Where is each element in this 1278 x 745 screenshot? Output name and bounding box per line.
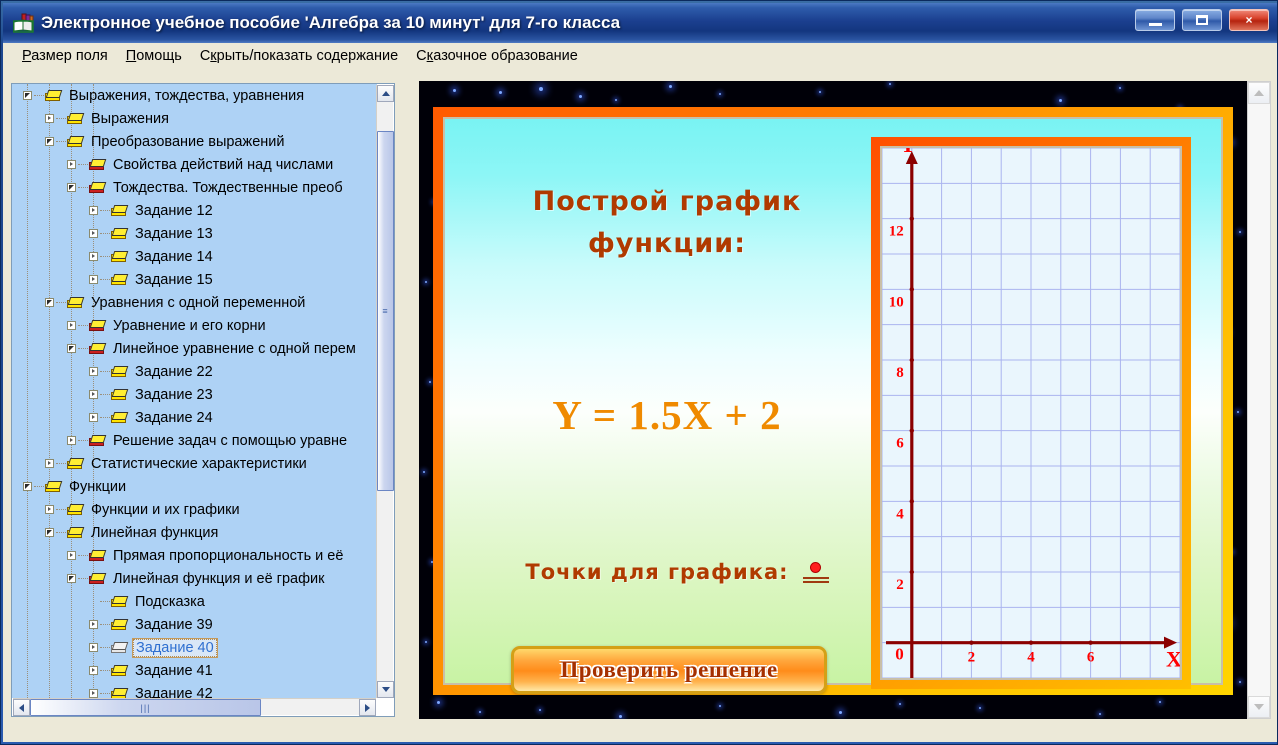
star — [499, 91, 502, 94]
triangle-right-icon — [67, 436, 76, 445]
tree-item-selected[interactable]: Задание 40 — [12, 636, 377, 659]
triangle-right-icon — [89, 413, 98, 422]
svg-text:X: X — [1166, 647, 1180, 672]
star — [437, 701, 440, 704]
tree-expander-expanded[interactable] — [20, 475, 34, 498]
chevron-up-icon — [1254, 90, 1264, 96]
menu-item-toggle-contents[interactable]: Скрыть/показать содержание — [191, 46, 407, 66]
close-button[interactable]: × — [1229, 9, 1269, 31]
tree-expander-collapsed[interactable] — [86, 268, 100, 291]
points-row: Точки для графика: — [497, 559, 857, 585]
book-red-icon — [88, 433, 107, 449]
tree-connector — [100, 647, 110, 648]
book-yellow-icon — [66, 502, 85, 518]
tree-item-label: Линейная функция — [89, 525, 220, 541]
tree-expander-collapsed[interactable] — [86, 682, 100, 698]
tree-connector — [100, 279, 110, 280]
scroll-grip-icon: ||| — [140, 703, 150, 713]
tree-item[interactable]: Задание 14 — [12, 245, 377, 268]
window-title: Электронное учебное пособие 'Алгебра за … — [41, 13, 620, 33]
tree-item-label: Задание 22 — [133, 364, 215, 380]
book-red-icon — [88, 157, 107, 173]
triangle-right-icon — [89, 275, 98, 284]
tree-item-label: Линейная функция и её график — [111, 571, 326, 587]
points-label: Точки для графика: — [525, 560, 788, 584]
tree-item-label: Задание 41 — [133, 663, 215, 679]
tree-connector — [100, 371, 110, 372]
tree-item-label: Задание 13 — [133, 226, 215, 242]
graph-frame: 246246810120YX — [871, 137, 1191, 689]
chevron-down-icon — [382, 687, 390, 692]
book-yellow-icon — [66, 525, 85, 541]
tree-item-label: Задание 12 — [133, 203, 215, 219]
tree-item[interactable]: Статистические характеристики — [12, 452, 377, 475]
tree-expander-expanded[interactable] — [42, 130, 56, 153]
tree-connector — [78, 187, 88, 188]
coordinate-grid: 246246810120YX — [882, 148, 1180, 678]
triangle-right-icon — [89, 390, 98, 399]
star — [1059, 99, 1062, 102]
tree-item-label: Линейное уравнение с одной перем — [111, 341, 358, 357]
menu-accel: П — [126, 48, 136, 64]
tree-expander-collapsed[interactable] — [86, 636, 100, 659]
star — [839, 711, 842, 714]
tree-horizontal-scroll-thumb[interactable]: ||| — [30, 699, 261, 716]
tree-expander-collapsed[interactable] — [64, 429, 78, 452]
tree-item[interactable]: Функции — [12, 475, 377, 498]
triangle-down-icon — [45, 528, 54, 537]
tree-scroll-up-button[interactable] — [377, 85, 394, 102]
star — [719, 705, 721, 707]
tree-connector — [100, 233, 110, 234]
tree-connector — [78, 578, 88, 579]
star — [669, 85, 672, 88]
menu-label-post: азмер поля — [31, 48, 108, 64]
tree-item[interactable]: Подсказка — [12, 590, 377, 613]
stage-scroll-down-button[interactable] — [1248, 696, 1270, 718]
star — [539, 709, 541, 711]
slide-frame: Построй график функции: Y = 1.5X + 2 Точ… — [433, 107, 1233, 695]
menu-label-pre: С — [416, 48, 426, 64]
triangle-right-icon — [89, 252, 98, 261]
tree-item-label: Статистические характеристики — [89, 456, 309, 472]
menu-item-field-size[interactable]: Размер поля — [13, 46, 117, 66]
tree-item[interactable]: Уравнения с одной переменной — [12, 291, 377, 314]
marker-underline-bottom — [803, 581, 829, 583]
svg-text:4: 4 — [896, 506, 904, 522]
triangle-right-icon — [89, 206, 98, 215]
triangle-right-icon — [67, 160, 76, 169]
tree-item-label: Задание 24 — [133, 410, 215, 426]
tree-item-label: Задание 14 — [133, 249, 215, 265]
star — [453, 89, 456, 92]
tree-expander-collapsed[interactable] — [86, 383, 100, 406]
star — [889, 83, 891, 85]
book-red-icon — [88, 571, 107, 587]
menu-label-post: азочное образование — [433, 48, 578, 64]
tree-item-label: Выражения — [89, 111, 171, 127]
star — [819, 91, 821, 93]
triangle-down-icon — [23, 482, 32, 491]
tree-item[interactable]: Выражения — [12, 107, 377, 130]
tree-connector — [100, 601, 110, 602]
tree-expander-collapsed[interactable] — [64, 153, 78, 176]
star — [1159, 701, 1161, 703]
svg-text:6: 6 — [1087, 650, 1095, 666]
tree-expander-collapsed[interactable] — [64, 314, 78, 337]
svg-text:6: 6 — [896, 436, 904, 452]
tree-expander-collapsed[interactable] — [86, 406, 100, 429]
triangle-right-icon — [89, 689, 98, 698]
tree-item[interactable]: Задание 22 — [12, 360, 377, 383]
tree-item-label: Функции и их графики — [89, 502, 242, 518]
tree-expander-collapsed[interactable] — [86, 613, 100, 636]
tree-item-label: Задание 40 — [133, 639, 217, 657]
tree-expander-collapsed[interactable] — [86, 245, 100, 268]
book-yellow-icon — [44, 479, 63, 495]
tree-horizontal-scrollbar[interactable]: ||| — [13, 698, 376, 715]
tree-item[interactable]: Задание 23 — [12, 383, 377, 406]
book-yellow-icon — [110, 410, 129, 426]
book-red-icon — [88, 180, 107, 196]
minimize-icon — [1149, 23, 1162, 26]
svg-text:12: 12 — [889, 224, 904, 240]
tree-expander-collapsed[interactable] — [64, 544, 78, 567]
svg-text:4: 4 — [1027, 650, 1035, 666]
book-yellow-icon — [66, 134, 85, 150]
tree-expander-collapsed[interactable] — [42, 452, 56, 475]
tree-expander-expanded[interactable] — [42, 291, 56, 314]
star — [479, 711, 481, 713]
tree-connector — [56, 509, 66, 510]
maximize-icon — [1196, 15, 1208, 25]
star — [425, 281, 427, 283]
tree-item-label: Функции — [67, 479, 128, 495]
book-yellow-icon — [110, 663, 129, 679]
tree-vertical-scroll-thumb[interactable]: ≡ — [377, 131, 394, 491]
svg-text:2: 2 — [968, 650, 976, 666]
tree-expander-collapsed[interactable] — [86, 360, 100, 383]
tree-connector — [34, 95, 44, 96]
tree-connector — [100, 210, 110, 211]
point-dot — [810, 562, 821, 573]
tree-connector — [100, 670, 110, 671]
tree-item[interactable]: Решение задач с помощью уравне — [12, 429, 377, 452]
chevron-up-icon — [382, 91, 390, 96]
tree-expander-collapsed[interactable] — [86, 199, 100, 222]
tree-item-label: Задание 15 — [133, 272, 215, 288]
tree-item[interactable]: Задание 41 — [12, 659, 377, 682]
tree-item[interactable]: Прямая пропорциональность и её — [12, 544, 377, 567]
tree-item[interactable]: Функции и их графики — [12, 498, 377, 521]
triangle-right-icon — [45, 505, 54, 514]
tree-expander-none — [86, 590, 100, 613]
tree-connector — [56, 141, 66, 142]
tree-connector — [78, 440, 88, 441]
triangle-right-icon — [89, 643, 98, 652]
menu-bar: Размер поля Помощь Скрыть/показать содер… — [3, 43, 1277, 69]
menu-label-post: рыть/показать содержание — [217, 48, 399, 64]
book-open-icon — [110, 640, 129, 656]
tree-connector — [100, 624, 110, 625]
triangle-down-icon — [67, 344, 76, 353]
book-red-icon — [88, 548, 107, 564]
chevron-right-icon — [365, 704, 370, 712]
tree-item[interactable]: Свойства действий над числами — [12, 153, 377, 176]
triangle-right-icon — [89, 620, 98, 629]
tree-connector — [78, 348, 88, 349]
svg-text:0: 0 — [895, 645, 904, 664]
tree-expander-expanded[interactable] — [64, 337, 78, 360]
graph-plot-area[interactable]: 246246810120YX — [880, 146, 1182, 680]
function-formula: Y = 1.5X + 2 — [497, 391, 837, 439]
lesson-stage: Построй график функции: Y = 1.5X + 2 Точ… — [419, 81, 1249, 719]
book-yellow-icon — [110, 226, 129, 242]
tree-expander-collapsed[interactable] — [86, 659, 100, 682]
tree-item[interactable]: Задание 24 — [12, 406, 377, 429]
tree-expander-collapsed[interactable] — [42, 107, 56, 130]
triangle-right-icon — [89, 229, 98, 238]
book-yellow-icon — [44, 88, 63, 104]
tree-item[interactable]: Задание 39 — [12, 613, 377, 636]
tree-item[interactable]: Задание 13 — [12, 222, 377, 245]
stage-vertical-scrollbar[interactable] — [1247, 81, 1271, 719]
book-yellow-icon — [110, 686, 129, 699]
client-area: Выражения, тождества, уравненияВыражения… — [3, 69, 1277, 742]
tree-connector — [100, 394, 110, 395]
svg-text:10: 10 — [889, 294, 904, 310]
tree-connector — [78, 325, 88, 326]
red-dot-marker-icon[interactable] — [803, 559, 829, 585]
tree-scroll-left-button[interactable] — [13, 699, 30, 716]
triangle-right-icon — [89, 367, 98, 376]
stage-scroll-up-button[interactable] — [1248, 82, 1270, 104]
tree-connector — [100, 417, 110, 418]
triangle-down-icon — [45, 137, 54, 146]
star — [423, 471, 425, 473]
chevron-down-icon — [1254, 704, 1264, 710]
star — [579, 95, 582, 98]
window-controls: × — [1135, 9, 1269, 31]
triangle-down-icon — [67, 183, 76, 192]
minimize-button[interactable] — [1135, 9, 1175, 31]
tree-connector — [100, 693, 110, 694]
tree-item-label: Выражения, тождества, уравнения — [67, 88, 306, 104]
maximize-button[interactable] — [1182, 9, 1222, 31]
tree-connector — [34, 486, 44, 487]
book-yellow-icon — [110, 249, 129, 265]
tree-item[interactable]: Линейная функция и её график — [12, 567, 377, 590]
tree-connector — [78, 555, 88, 556]
title-bar: Электронное учебное пособие 'Алгебра за … — [3, 3, 1277, 43]
tree-item[interactable]: Задание 15 — [12, 268, 377, 291]
svg-text:2: 2 — [896, 577, 904, 593]
task-prompt-line2: функции: — [497, 223, 837, 265]
book-yellow-icon — [110, 203, 129, 219]
books-icon — [9, 13, 39, 33]
tree-item-label: Подсказка — [133, 594, 207, 610]
scroll-grip-icon: ≡ — [382, 306, 388, 316]
tree-item-label: Преобразование выражений — [89, 134, 286, 150]
tree-connector — [56, 532, 66, 533]
tree-connector — [78, 164, 88, 165]
tree-connector — [100, 256, 110, 257]
book-yellow-icon — [110, 594, 129, 610]
menu-label-pre: С — [200, 48, 210, 64]
slide-surface: Построй график функции: Y = 1.5X + 2 Точ… — [443, 117, 1223, 685]
tree-item[interactable]: Преобразование выражений — [12, 130, 377, 153]
tree-item-label: Задание 39 — [133, 617, 215, 633]
triangle-right-icon — [89, 666, 98, 675]
menu-accel: Р — [22, 48, 31, 64]
tree-item-label: Задание 42 — [133, 686, 215, 699]
check-solution-label: Проверить решение — [560, 657, 777, 683]
app-window: Электронное учебное пособие 'Алгебра за … — [0, 0, 1278, 745]
star — [1239, 681, 1241, 683]
tree-item-label: Свойства действий над числами — [111, 157, 335, 173]
book-yellow-icon — [110, 272, 129, 288]
star — [1239, 231, 1241, 233]
star — [429, 381, 431, 383]
marker-underline-top — [803, 577, 829, 579]
menu-item-fairy-education[interactable]: Сказочное образование — [407, 46, 587, 66]
book-yellow-icon — [110, 364, 129, 380]
tree-item-label: Прямая пропорциональность и её — [111, 548, 345, 564]
tree-scroll-right-button[interactable] — [359, 699, 376, 716]
tree-expander-expanded[interactable] — [64, 567, 78, 590]
tree-connector — [56, 302, 66, 303]
star — [619, 715, 622, 718]
tree-item[interactable]: Линейное уравнение с одной перем — [12, 337, 377, 360]
star — [1099, 713, 1101, 715]
triangle-right-icon — [45, 459, 54, 468]
tree-item-label: Уравнения с одной переменной — [89, 295, 307, 311]
triangle-down-icon — [67, 574, 76, 583]
tree-item[interactable]: Линейная функция — [12, 521, 377, 544]
book-red-icon — [88, 318, 107, 334]
tree-item[interactable]: Задание 12 — [12, 199, 377, 222]
triangle-right-icon — [67, 321, 76, 330]
tree-expander-collapsed[interactable] — [86, 222, 100, 245]
tree-expander-collapsed[interactable] — [42, 498, 56, 521]
star — [899, 703, 901, 705]
tree-item-label: Задание 23 — [133, 387, 215, 403]
star — [425, 641, 427, 643]
triangle-right-icon — [67, 551, 76, 560]
book-yellow-icon — [66, 111, 85, 127]
contents-tree[interactable]: Выражения, тождества, уравненияВыражения… — [12, 84, 377, 698]
book-yellow-icon — [110, 617, 129, 633]
svg-text:Y: Y — [900, 148, 916, 157]
close-icon: × — [1245, 14, 1252, 26]
triangle-down-icon — [23, 91, 32, 100]
triangle-right-icon — [45, 114, 54, 123]
task-prompt-line1: Построй график — [497, 181, 837, 223]
tree-expander-expanded[interactable] — [64, 176, 78, 199]
star — [615, 99, 617, 101]
tree-expander-expanded[interactable] — [20, 84, 34, 107]
book-yellow-icon — [66, 456, 85, 472]
check-solution-button[interactable]: Проверить решение — [511, 646, 827, 694]
triangle-down-icon — [45, 298, 54, 307]
tree-connector — [56, 118, 66, 119]
tree-scroll-down-button[interactable] — [377, 681, 394, 698]
book-yellow-icon — [110, 387, 129, 403]
star — [1119, 87, 1121, 89]
book-yellow-icon — [66, 295, 85, 311]
tree-item[interactable]: Тождества. Тождественные преоб — [12, 176, 377, 199]
star — [719, 93, 721, 95]
svg-text:8: 8 — [896, 365, 904, 381]
menu-item-help[interactable]: Помощь — [117, 46, 191, 66]
tree-item[interactable]: Задание 42 — [12, 682, 377, 698]
menu-label-post: омощь — [136, 48, 182, 64]
tree-item-label: Тождества. Тождественные преоб — [111, 180, 345, 196]
book-red-icon — [88, 341, 107, 357]
chevron-left-icon — [19, 704, 24, 712]
tree-item[interactable]: Выражения, тождества, уравнения — [12, 84, 377, 107]
tree-expander-expanded[interactable] — [42, 521, 56, 544]
star — [1237, 411, 1239, 413]
tree-vertical-scrollbar[interactable]: ≡ — [376, 85, 393, 698]
star — [539, 87, 543, 91]
tree-item[interactable]: Уравнение и его корни — [12, 314, 377, 337]
tree-item-label: Уравнение и его корни — [111, 318, 268, 334]
tree-item-label: Решение задач с помощью уравне — [111, 433, 349, 449]
star — [979, 707, 981, 709]
contents-tree-panel: Выражения, тождества, уравненияВыражения… — [11, 83, 395, 717]
tree-connector — [56, 463, 66, 464]
task-prompt: Построй график функции: — [497, 181, 837, 265]
